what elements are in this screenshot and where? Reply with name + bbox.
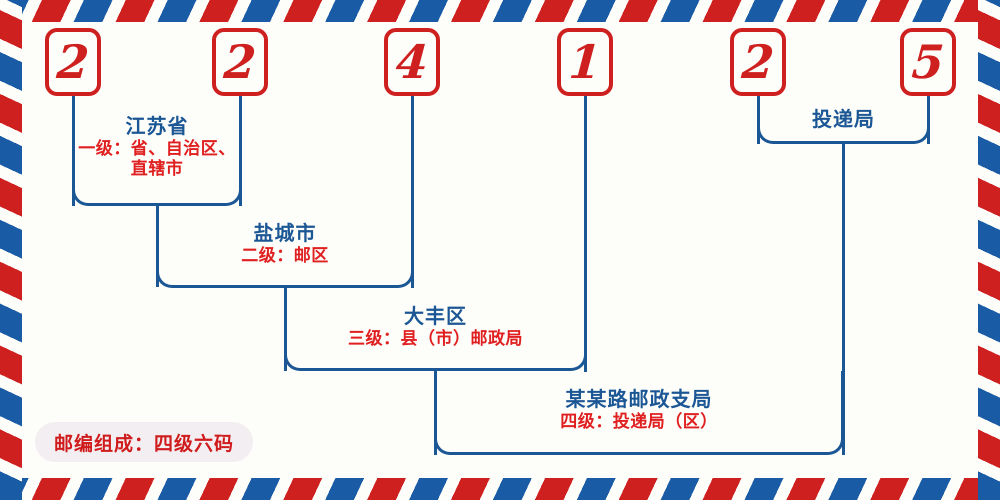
node-subtitle-level-1: 一级：省、自治区、直辖市 — [77, 139, 237, 179]
node-subtitle-level-4: 四级：投递局（区） — [444, 412, 834, 432]
digit-glyph-5: 2 — [740, 39, 775, 85]
node-label-level-4: 某某路邮政支局 四级：投递局（区） — [444, 388, 834, 432]
envelope-border-bottom — [0, 478, 1000, 500]
postcode-composition-badge: 邮编组成：四级六码 — [35, 422, 253, 462]
digit-glyph-3: 4 — [394, 39, 429, 85]
digit-box-3: 4 — [384, 28, 440, 96]
digit-box-5: 2 — [730, 28, 786, 96]
postcode-diagram-envelope: 2 2 4 1 2 5 江苏省 一级：省、自治区、直辖市 盐城市 二级：邮区 大… — [0, 0, 1000, 500]
node-title-level-1: 江苏省 — [77, 115, 237, 139]
postcode-composition-text: 邮编组成：四级六码 — [54, 429, 234, 456]
envelope-border-top — [0, 0, 1000, 22]
node-subtitle-level-2: 二级：邮区 — [165, 246, 405, 266]
node-title-level-2: 盐城市 — [165, 222, 405, 246]
node-label-level-1: 江苏省 一级：省、自治区、直辖市 — [77, 115, 237, 179]
node-title-level-3: 大丰区 — [293, 305, 578, 329]
digit-box-4: 1 — [557, 28, 613, 96]
node-subtitle-level-3: 三级：县（市）邮政局 — [293, 329, 578, 349]
digit-box-2: 2 — [212, 28, 268, 96]
digit-box-1: 2 — [45, 28, 101, 96]
node-label-delivery-office: 投递局 — [762, 108, 925, 132]
digit-glyph-1: 2 — [55, 39, 90, 85]
envelope-border-left — [0, 0, 22, 500]
digit-glyph-2: 2 — [222, 39, 257, 85]
envelope-border-right — [978, 0, 1000, 500]
node-title-level-4: 某某路邮政支局 — [444, 388, 834, 412]
digit-glyph-6: 5 — [910, 39, 945, 85]
node-label-level-2: 盐城市 二级：邮区 — [165, 222, 405, 266]
node-title-delivery-office: 投递局 — [762, 108, 925, 132]
digit-box-6: 5 — [900, 28, 956, 96]
digit-glyph-4: 1 — [567, 39, 602, 85]
node-label-level-3: 大丰区 三级：县（市）邮政局 — [293, 305, 578, 349]
